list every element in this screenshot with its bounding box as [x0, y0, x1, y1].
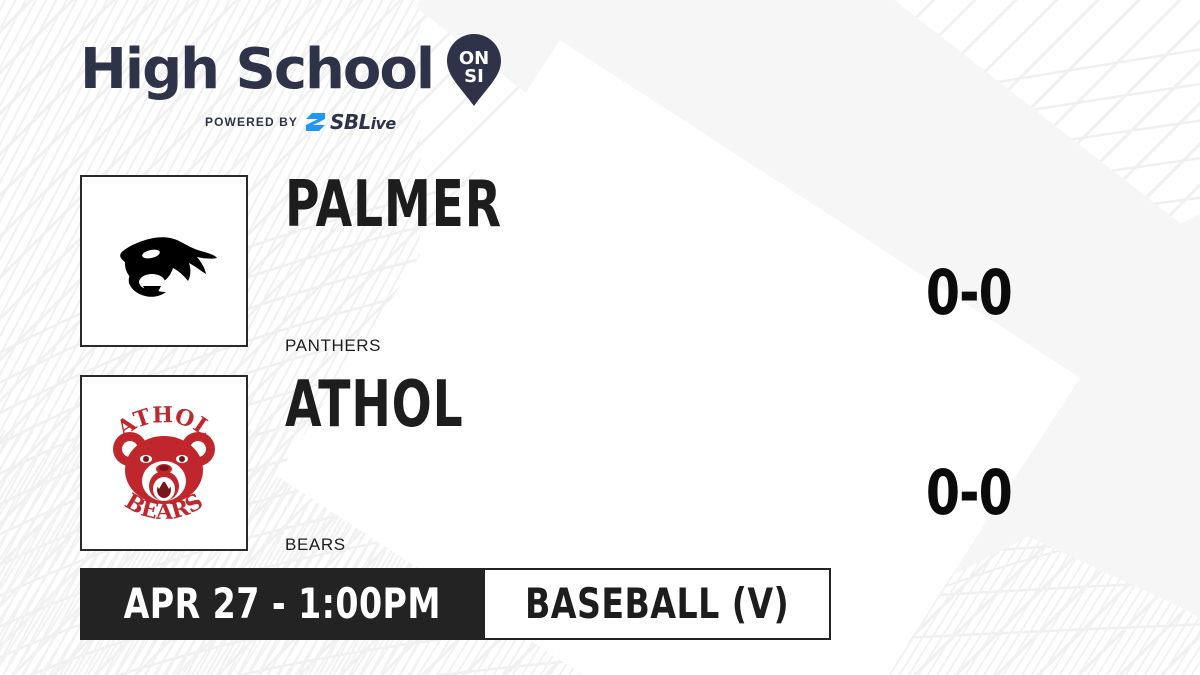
home-team-text: PALMER PANTHERS — [285, 175, 550, 356]
pin-text-si: SI — [464, 66, 484, 87]
game-datetime-block: APR 27 - 1:00PM — [80, 568, 485, 640]
away-team-logo-box: ATHOL BEARS — [80, 375, 248, 551]
sblive-lower: ive — [371, 114, 396, 133]
home-team-logo-box — [80, 175, 248, 347]
game-sport-block: BASEBALL (V) — [485, 568, 831, 640]
sblive-logo: SBLive — [305, 112, 396, 132]
sblive-s-mark-icon — [305, 112, 327, 132]
home-team-name: PALMER — [285, 179, 502, 231]
powered-by-label: POWERED BY — [205, 115, 298, 129]
home-team-record: 0-0 — [926, 262, 1012, 324]
game-datetime: APR 27 - 1:00PM — [124, 583, 441, 625]
page-title: High School — [80, 42, 433, 98]
home-team-mascot: PANTHERS — [285, 336, 550, 356]
away-team-record: 0-0 — [926, 462, 1012, 524]
sblive-upper: SBL — [330, 110, 371, 134]
away-team-mascot: BEARS — [285, 535, 503, 555]
game-scorecard: High School ON SI POWERED BY SBLive — [0, 0, 1200, 675]
game-sport: BASEBALL (V) — [525, 583, 789, 625]
sblive-wordmark: SBLive — [330, 112, 396, 132]
home-team-row: PALMER PANTHERS — [80, 175, 550, 356]
athol-bears-logo-icon: ATHOL BEARS — [94, 393, 234, 533]
away-team-name: ATHOL — [285, 379, 464, 431]
panther-head-logo-icon — [109, 218, 219, 304]
powered-by-row: POWERED BY SBLive — [205, 112, 396, 132]
away-team-row: ATHOL BEARS ATHOL BEARS — [80, 375, 503, 555]
brand-title-row: High School ON SI — [80, 34, 501, 106]
away-team-text: ATHOL BEARS — [285, 375, 503, 555]
game-info-banner: APR 27 - 1:00PM BASEBALL (V) — [80, 568, 831, 640]
on-si-pin-icon: ON SI — [447, 34, 501, 106]
brand-header: High School ON SI POWERED BY SBLive — [80, 34, 501, 132]
